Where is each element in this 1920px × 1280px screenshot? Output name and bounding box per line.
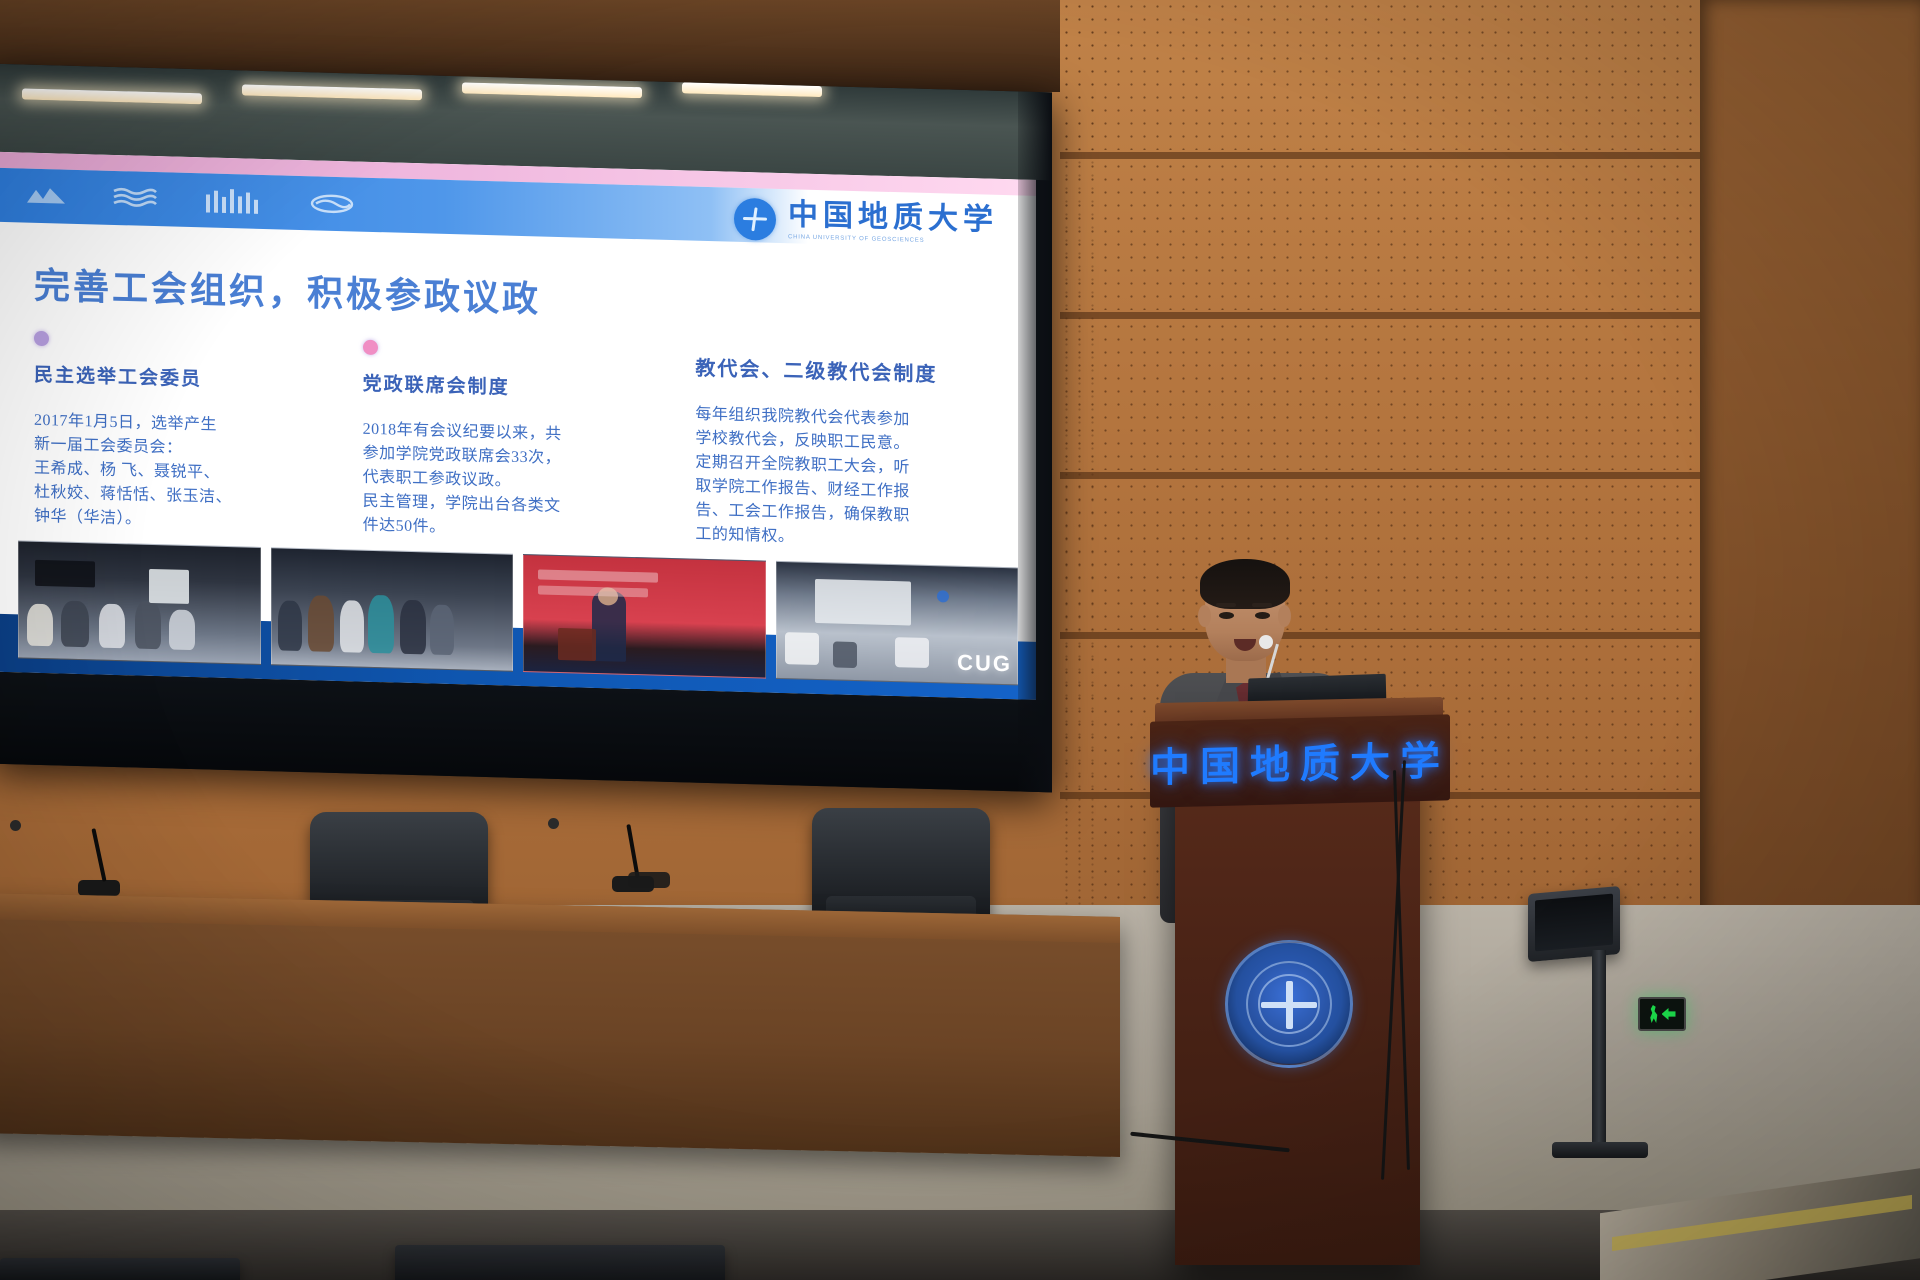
slide-columns: 民主选举工会委员 2017年1月5日，选举产生 新一届工会委员会： 王希成、杨 … bbox=[34, 331, 994, 555]
speaker-eye-right bbox=[1255, 612, 1270, 619]
speaker-ear-right bbox=[1278, 605, 1291, 627]
wall-seam-2 bbox=[1060, 312, 1720, 319]
acoustic-panel-c bbox=[1060, 320, 1720, 470]
projection-screen: 中国地质大学 CHINA UNIVERSITY OF GEOSCIENCES 完… bbox=[0, 64, 1052, 793]
floor-wedge-monitor-1 bbox=[395, 1245, 725, 1280]
cug-footer-mark: CUG bbox=[957, 650, 1012, 677]
speaker-brow-left bbox=[1216, 603, 1236, 607]
speaker-hair bbox=[1200, 559, 1290, 609]
monitor-stand-pole bbox=[1592, 950, 1606, 1150]
floor-wedge-monitor-2 bbox=[0, 1258, 240, 1280]
speaker-brow-right bbox=[1252, 603, 1272, 607]
slide-photo bbox=[18, 540, 261, 665]
bullet-dot-icon bbox=[34, 331, 49, 346]
stage-monitor-icon bbox=[1528, 886, 1620, 962]
ceiling-light-2 bbox=[242, 84, 422, 100]
emblem-inner-disc bbox=[1246, 961, 1332, 1047]
wall-seam-1 bbox=[1060, 152, 1720, 159]
acoustic-panel-a bbox=[1060, 0, 1720, 150]
head-table bbox=[0, 893, 1120, 1157]
cug-circular-emblem bbox=[1225, 940, 1353, 1068]
presentation-slide: 中国地质大学 CHINA UNIVERSITY OF GEOSCIENCES 完… bbox=[0, 152, 1036, 700]
bullet-dot-icon bbox=[363, 340, 378, 355]
ceiling-light-1 bbox=[22, 88, 202, 104]
table-mic-head-2 bbox=[548, 818, 559, 829]
cloud-layer-icon bbox=[308, 190, 356, 217]
table-mic-head-1 bbox=[10, 820, 21, 831]
wall-seam-3 bbox=[1060, 472, 1720, 479]
acoustic-panel-b bbox=[1060, 160, 1720, 310]
wall-seam-4 bbox=[1060, 632, 1720, 639]
column-1-heading: 民主选举工会委员 bbox=[34, 360, 333, 395]
table-mic-base-3 bbox=[628, 872, 670, 888]
ceiling-light-3 bbox=[462, 82, 642, 98]
screen-right-bezel bbox=[1018, 91, 1052, 792]
slide-title: 完善工会组织，积极参政议政 bbox=[34, 257, 541, 323]
emergency-exit-icon bbox=[1638, 997, 1686, 1031]
slide-photo bbox=[271, 547, 514, 672]
monitor-stand-foot bbox=[1552, 1142, 1648, 1158]
stage-monitor-screen bbox=[1535, 894, 1613, 952]
speaker-eye-left bbox=[1219, 612, 1234, 619]
slide-photo bbox=[523, 554, 766, 679]
mountain-wave-icon bbox=[26, 183, 66, 210]
conference-hall-scene: 中国地质大学 CHINA UNIVERSITY OF GEOSCIENCES 完… bbox=[0, 0, 1920, 1280]
screen-surface: 中国地质大学 CHINA UNIVERSITY OF GEOSCIENCES 完… bbox=[0, 152, 1036, 700]
slide-column-3: 教代会、二级教代会制度 每年组织我院教代会代表参加 学校教代会，反映职工民意。 … bbox=[695, 323, 994, 555]
slide-university-logo: 中国地质大学 CHINA UNIVERSITY OF GEOSCIENCES bbox=[734, 198, 998, 247]
column-2-heading: 党政联席会制度 bbox=[363, 369, 662, 404]
column-3-body: 每年组织我院教代会代表参加 学校教代会，反映职工民意。 定期召开全院教职工大会，… bbox=[695, 403, 994, 555]
column-1-body: 2017年1月5日，选举产生 新一届工会委员会： 王希成、杨 飞、聂锐平、 杜秋… bbox=[34, 409, 333, 537]
exit-running-man-icon bbox=[1649, 1005, 1660, 1023]
logo-chinese-name: 中国地质大学 bbox=[788, 200, 998, 236]
slide-column-2: 党政联席会制度 2018年有会议纪要以来，共 参加学院党政联席会33次， 代表职… bbox=[363, 340, 662, 546]
column-3-heading: 教代会、二级教代会制度 bbox=[695, 352, 994, 389]
column-2-body: 2018年有会议纪要以来，共 参加学院党政联席会33次， 代表职工参政议政。 民… bbox=[363, 418, 662, 546]
slide-column-1: 民主选举工会委员 2017年1月5日，选举产生 新一届工会委员会： 王希成、杨 … bbox=[34, 331, 333, 537]
exit-arrow-icon bbox=[1662, 1008, 1676, 1020]
water-wave-icon bbox=[112, 185, 158, 212]
handheld-microphone-icon bbox=[1259, 635, 1273, 649]
cug-compass-icon bbox=[734, 198, 776, 241]
speaker-ear-left bbox=[1198, 605, 1211, 627]
acoustic-panel-d bbox=[1060, 480, 1720, 630]
table-mic-base-1 bbox=[78, 880, 120, 896]
strata-bar-icon bbox=[204, 186, 262, 216]
emblem-axis-line bbox=[1286, 981, 1293, 1029]
